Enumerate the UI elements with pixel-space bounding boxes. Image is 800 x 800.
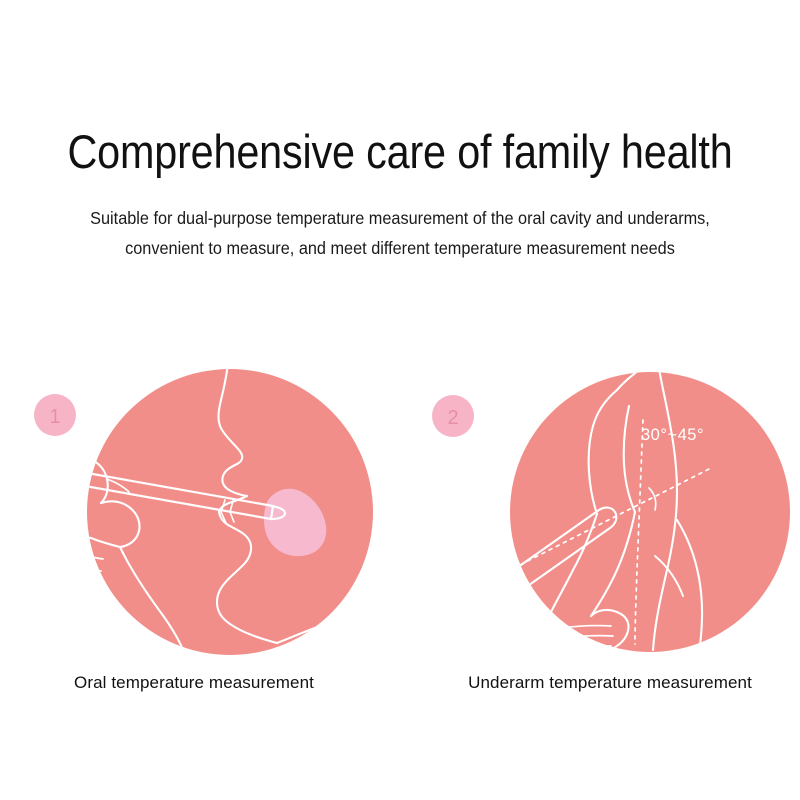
steps-container: 1 Oral temperature measurement bbox=[0, 360, 800, 720]
page-subtitle-line-1: Suitable for dual-purpose temperature me… bbox=[65, 203, 735, 233]
fist-finger-line-3 bbox=[565, 646, 611, 648]
angle-label: 30°~45° bbox=[641, 426, 704, 444]
page-title: Comprehensive care of family health bbox=[48, 124, 752, 180]
underarm-illustration-circle: 30°~45° 2 bbox=[415, 360, 785, 660]
underarm-illustration-svg: 30°~45° 2 bbox=[415, 360, 785, 660]
step-oral: 1 Oral temperature measurement bbox=[15, 360, 385, 710]
step-underarm: 30°~45° 2 Underarm temperature measureme… bbox=[415, 360, 785, 710]
page-subtitle-line-2: convenient to measure, and meet differen… bbox=[65, 233, 735, 263]
hand-outer-edge bbox=[51, 480, 91, 538]
oral-illustration-svg: 1 bbox=[15, 360, 385, 660]
underarm-caption: Underarm temperature measurement bbox=[425, 672, 795, 694]
page-subtitle: Suitable for dual-purpose temperature me… bbox=[65, 203, 735, 263]
step-badge-number-oral: 1 bbox=[49, 406, 60, 428]
oral-caption: Oral temperature measurement bbox=[9, 672, 379, 694]
step-badge-number-underarm: 2 bbox=[447, 407, 458, 429]
curled-finger-3 bbox=[75, 572, 99, 582]
oral-illustration-circle: 1 bbox=[15, 360, 385, 660]
product-infographic-page: Comprehensive care of family health Suit… bbox=[0, 0, 800, 800]
hand-knuckle-edge bbox=[53, 470, 63, 480]
